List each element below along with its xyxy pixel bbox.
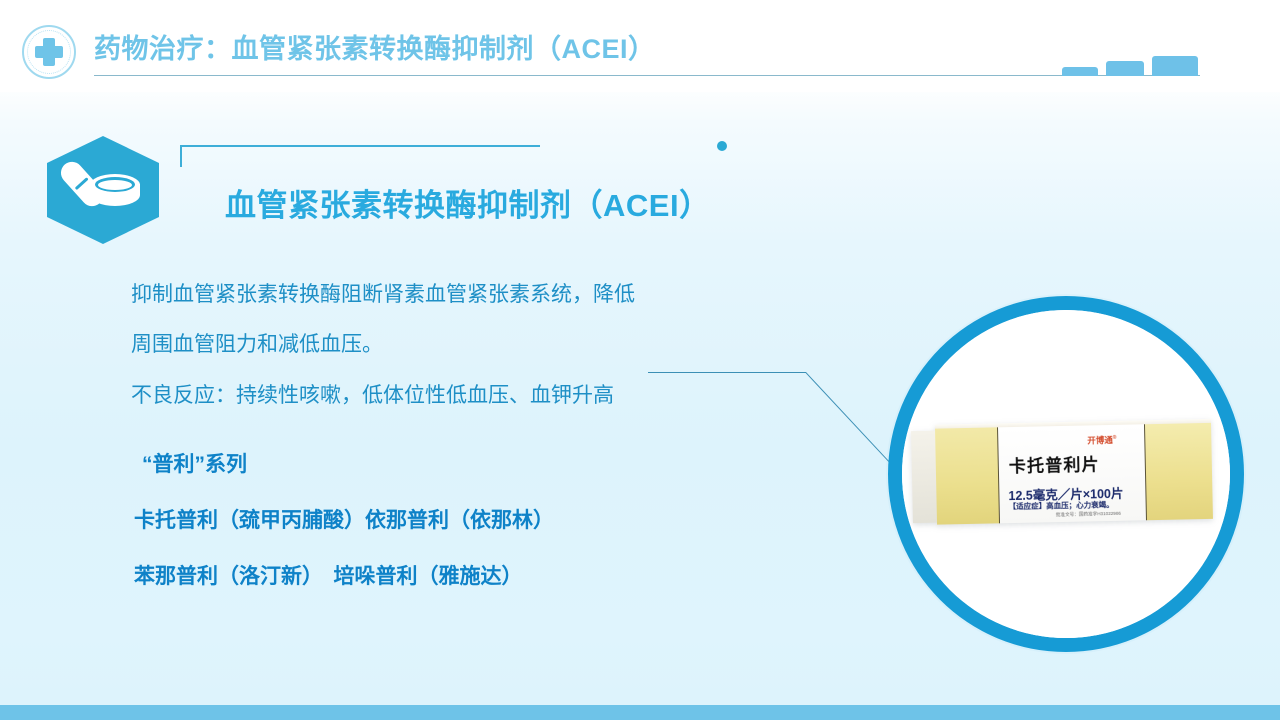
body-line-3: 不良反应：持续性咳嗽，低体位性低血压、血钾升高 — [131, 383, 731, 409]
section-title: 血管紧张素转换酶抑制剂（ACEI） — [225, 180, 711, 225]
deco-end-dot — [717, 141, 727, 151]
page-title: 药物治疗：血管紧张素转换酶抑制剂（ACEI） — [94, 27, 656, 66]
connector-diagonal — [805, 372, 891, 464]
box-yellow-panel-left — [935, 427, 999, 524]
box-brand-text: 开博通 — [1087, 435, 1113, 446]
tablet-inner-face — [98, 180, 132, 190]
pill-capsule-icon — [47, 136, 159, 244]
deco-bar-medium — [1106, 61, 1144, 76]
box-drug-name: 卡托普利片 — [1009, 450, 1101, 477]
connector-horizontal — [648, 372, 806, 373]
deco-horizontal-line — [180, 145, 540, 147]
header-bar-chart-decoration — [1062, 55, 1202, 76]
photo-circle: 开博通® 卡托普利片 12.5毫克／片×100片 【适应症】高血压；心力衰竭。 … — [902, 310, 1230, 638]
slide: 药物治疗：血管紧张素转换酶抑制剂（ACEI） 血管紧张素转换酶抑制剂（ACEI）… — [0, 0, 1280, 720]
footer-bar — [0, 705, 1280, 720]
photo-ring: 开博通® 卡托普利片 12.5毫克／片×100片 【适应症】高血压；心力衰竭。 … — [888, 296, 1244, 652]
box-yellow-panel-right — [1145, 423, 1213, 520]
cross-horizontal — [35, 46, 63, 58]
box-brand-mark: ® — [1113, 435, 1117, 441]
photo-scene: 开博通® 卡托普利片 12.5毫克／片×100片 【适应症】高血压；心力衰竭。 … — [902, 310, 1230, 638]
section-decoration-line — [180, 145, 555, 167]
drug-list-block: “普利”系列 卡托普利（巯甲丙脯酸）依那普利（依那林） 苯那普利（洛汀新） 培哚… — [134, 452, 754, 621]
deco-tick — [180, 145, 182, 167]
slide-header: 药物治疗：血管紧张素转换酶抑制剂（ACEI） — [0, 0, 1280, 92]
medical-cross-icon — [18, 21, 80, 83]
box-indication: 【适应症】高血压；心力衰竭。 — [1009, 499, 1114, 512]
body-text-block: 抑制血管紧张素转换酶阻断肾素血管紧张素系统，降低 周围血管阻力和减低血压。 不良… — [131, 282, 731, 433]
body-line-2: 周围血管阻力和减低血压。 — [131, 332, 731, 358]
body-line-1: 抑制血管紧张素转换酶阻断肾素血管紧张素系统，降低 — [131, 282, 731, 308]
drug-list-item-1: 卡托普利（巯甲丙脯酸）依那普利（依那林） — [134, 508, 754, 533]
box-brand-label: 开博通® — [1087, 434, 1116, 447]
medicine-box: 开博通® 卡托普利片 12.5毫克／片×100片 【适应症】高血压；心力衰竭。 … — [911, 423, 1213, 525]
deco-bar-short — [1062, 67, 1098, 76]
drug-list-item-0: “普利”系列 — [134, 452, 754, 477]
drug-list-item-2: 苯那普利（洛汀新） 培哚普利（雅施达） — [134, 564, 754, 589]
deco-bar-tall — [1152, 56, 1198, 76]
header-divider — [94, 75, 1200, 76]
